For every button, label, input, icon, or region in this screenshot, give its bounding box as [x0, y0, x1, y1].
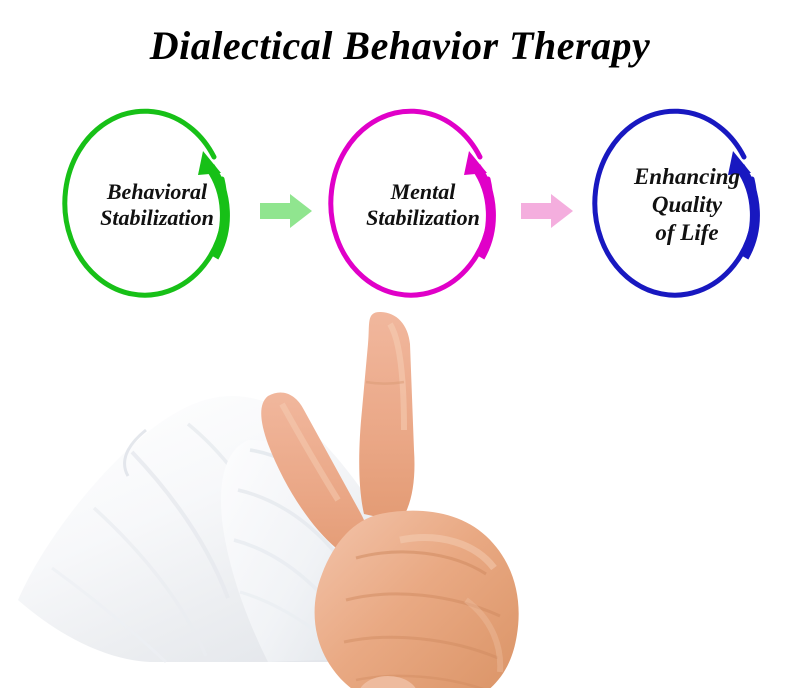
flow-arrow-pink — [521, 193, 573, 229]
stage-behavioral-stabilization[interactable]: Behavioral Stabilization — [62, 105, 252, 305]
flow-arrow-green — [260, 193, 312, 229]
circular-arrow-icon — [592, 105, 782, 305]
circular-arrow-icon — [328, 105, 518, 305]
stage-mental-stabilization[interactable]: Mental Stabilization — [328, 105, 518, 305]
right-arrow-icon — [260, 193, 312, 229]
right-arrow-icon — [521, 193, 573, 229]
hand-pointing-photo — [0, 300, 800, 688]
circular-arrow-icon — [62, 105, 252, 305]
process-flow-diagram: Behavioral Stabilization Mental Stabiliz… — [0, 105, 800, 310]
page-title: Dialectical Behavior Therapy — [0, 22, 800, 69]
hand-pointing-up-illustration — [0, 300, 800, 688]
stage-enhancing-quality-of-life[interactable]: Enhancing Quality of Life — [592, 105, 782, 305]
